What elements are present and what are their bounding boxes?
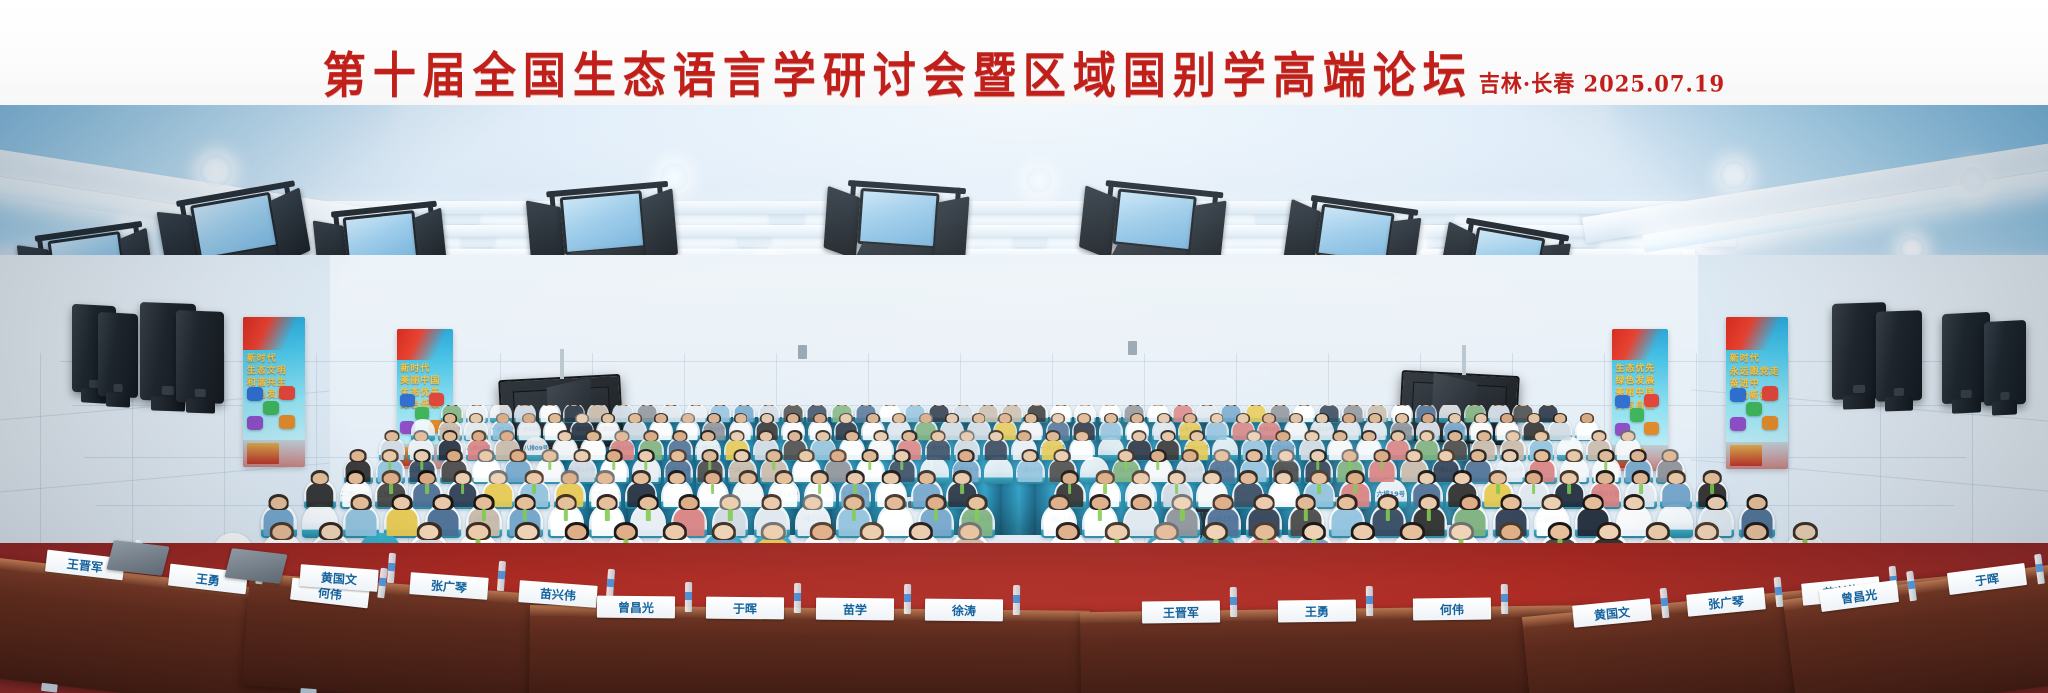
desk-nameplate: 王勇 <box>1277 599 1355 622</box>
front-desk-group: 王晋军王勇何伟黄国文张广琴苗兴伟曾昌光于晖苗学徐涛王晋军王勇何伟黄国文张广琴苗兴… <box>0 105 2048 693</box>
water-bottle <box>1774 577 1784 608</box>
water-bottle <box>794 583 801 613</box>
desk-nameplate: 何伟 <box>1413 597 1491 620</box>
water-bottle <box>1501 584 1508 614</box>
water-bottle <box>903 584 910 614</box>
water-bottle <box>1230 587 1237 617</box>
event-location-date: 吉林·长春 2025.07.19 <box>1479 67 1725 99</box>
event-title: 第十届全国生态语言学研讨会暨区域国别学高端论坛 <box>323 53 1473 101</box>
event-title-banner: 第十届全国生态语言学研讨会暨区域国别学高端论坛 吉林·长春 2025.07.19 <box>0 0 2048 105</box>
water-bottle <box>387 552 396 582</box>
desk-foot <box>300 688 317 693</box>
group-photo: 新时代 生态文明 和谐共生 绿色发展新时代 美丽中国 生态优先 绿色低碳生态优先… <box>0 105 2048 693</box>
desk-foot <box>41 683 58 693</box>
screenshot-root: 第十届全国生态语言学研讨会暨区域国别学高端论坛 吉林·长春 2025.07.19 <box>0 0 2048 693</box>
desk-nameplate: 王晋军 <box>1142 601 1220 624</box>
laptop <box>106 540 169 576</box>
desk-nameplate: 于晖 <box>706 596 784 619</box>
desk-nameplate: 徐涛 <box>925 599 1003 622</box>
desk-nameplate: 苗学 <box>815 598 893 621</box>
water-bottle <box>685 582 692 612</box>
banner-text-row: 第十届全国生态语言学研讨会暨区域国别学高端论坛 吉林·长春 2025.07.19 <box>0 58 2048 101</box>
water-bottle <box>1365 585 1372 615</box>
water-bottle <box>606 569 615 599</box>
water-bottle <box>1013 585 1020 615</box>
desk-nameplate: 曾昌光 <box>597 595 675 618</box>
water-bottle <box>497 561 506 591</box>
laptop <box>224 548 287 584</box>
front-desk <box>529 605 1090 693</box>
